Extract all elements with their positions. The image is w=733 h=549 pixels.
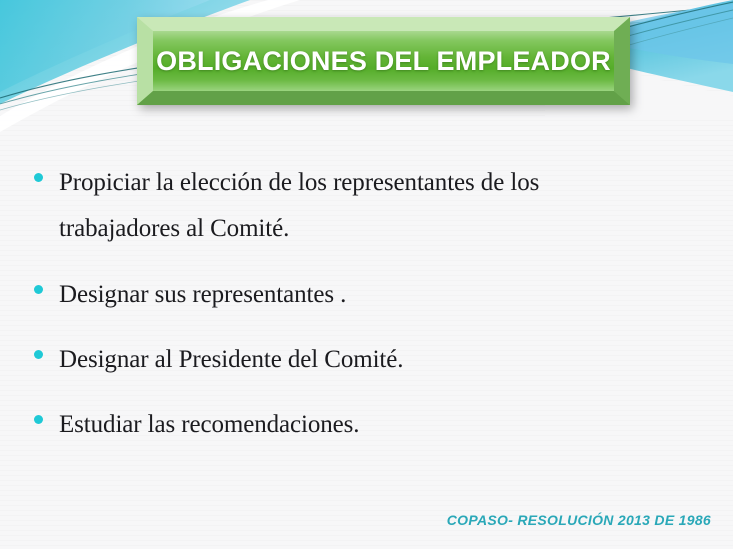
bullet-dot-icon [34, 173, 43, 182]
list-item: Designar sus representantes . [34, 272, 654, 318]
slide-title-banner: OBLIGACIONES DEL EMPLEADOR [137, 17, 630, 105]
bullet-text: Propiciar la elección de los representan… [59, 160, 654, 253]
list-item: Propiciar la elección de los representan… [34, 160, 654, 253]
slide-footer: COPASO- RESOLUCIÓN 2013 DE 1986 [447, 512, 711, 528]
list-item: Designar al Presidente del Comité. [34, 337, 654, 383]
bullet-list: Propiciar la elección de los representan… [34, 160, 654, 467]
bullet-text: Designar sus representantes . [59, 272, 346, 318]
presentation-slide: OBLIGACIONES DEL EMPLEADOR Propiciar la … [0, 0, 733, 549]
bullet-dot-icon [34, 415, 43, 424]
list-item: Estudiar las recomendaciones. [34, 402, 654, 448]
bullet-dot-icon [34, 285, 43, 294]
bullet-text: Estudiar las recomendaciones. [59, 402, 359, 448]
bullet-dot-icon [34, 350, 43, 359]
bullet-text: Designar al Presidente del Comité. [59, 337, 403, 383]
slide-title: OBLIGACIONES DEL EMPLEADOR [137, 17, 630, 105]
